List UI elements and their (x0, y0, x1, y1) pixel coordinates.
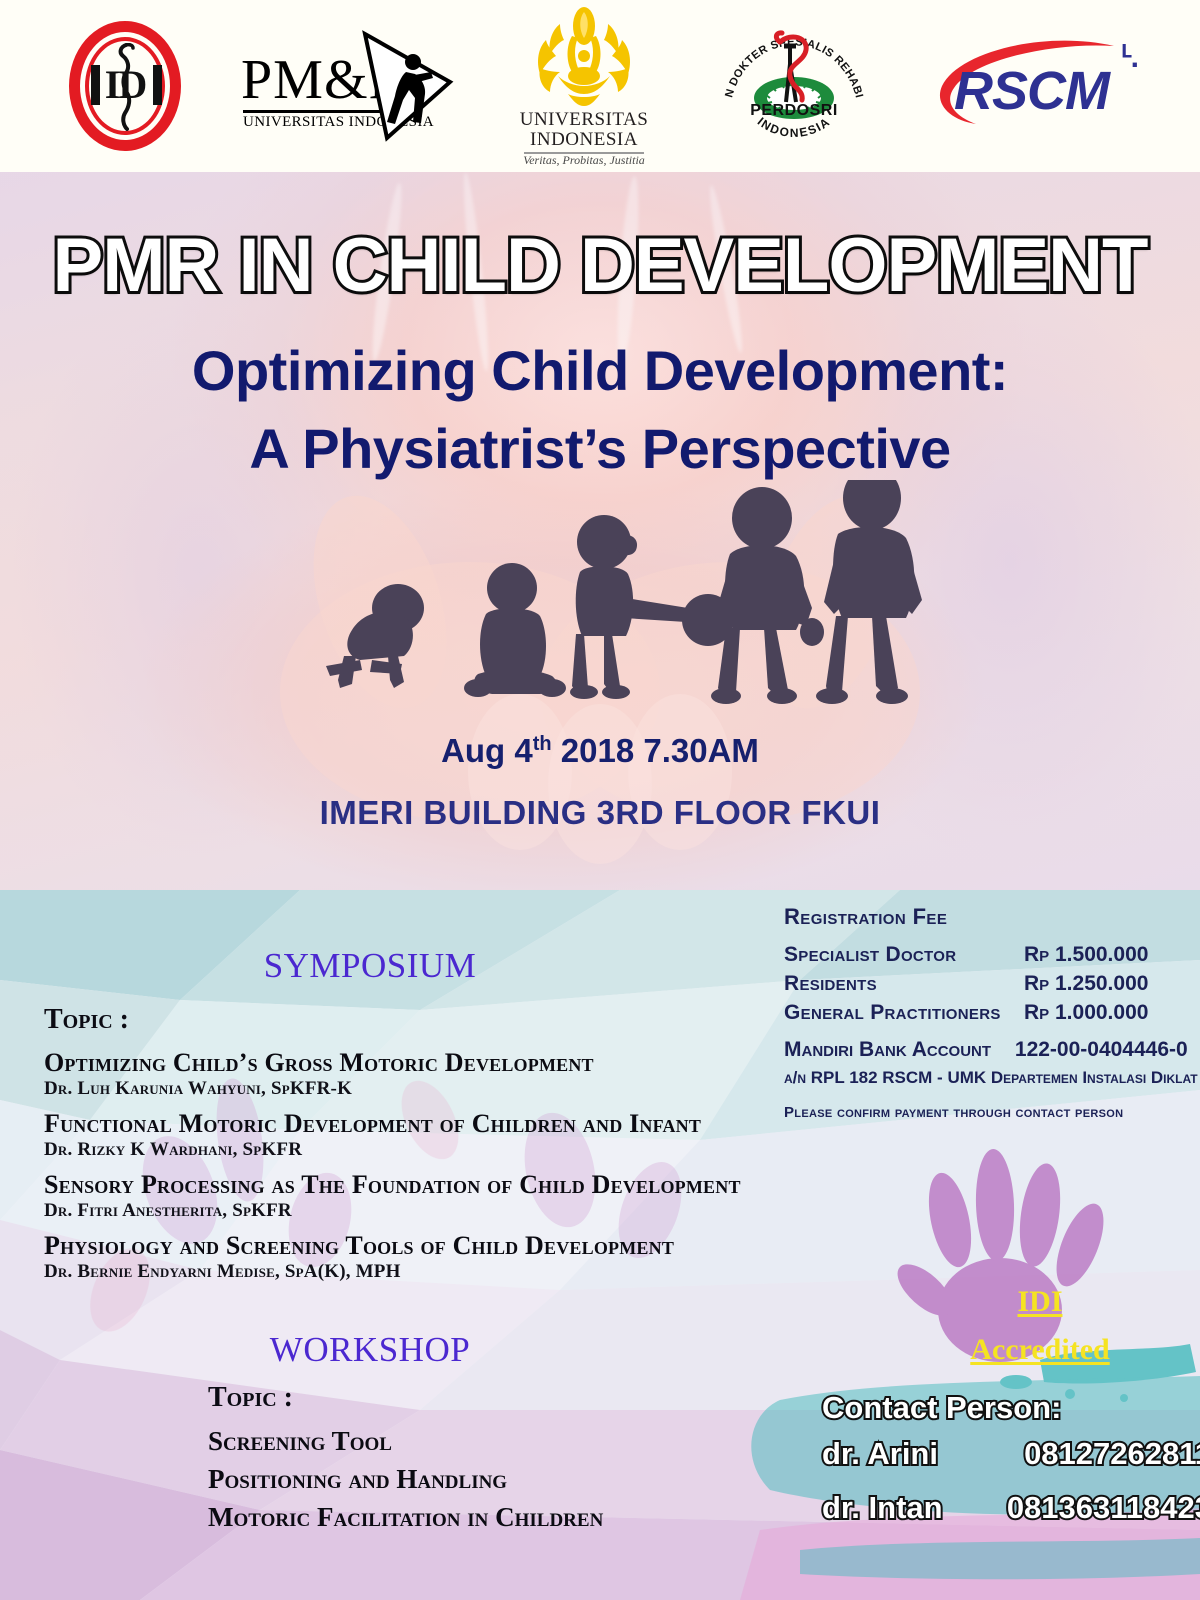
page-subtitle-line2: A Physiatrist’s Perspective (249, 417, 950, 480)
symposium-topic-label: Topic : (44, 1004, 129, 1036)
contact-name: dr. Arini (822, 1436, 938, 1472)
fee-label: General Practitioners (784, 998, 1001, 1027)
payment-confirmation-note: Please confirm payment through contact p… (784, 1104, 1199, 1121)
ui-logo-name-line1: UNIVERSITAS (520, 109, 649, 130)
event-date-prefix: Aug 4 (441, 732, 533, 769)
idi-accredited-text: IDI Accredited (920, 1278, 1160, 1374)
logo-slot-pmr: PM&R UNIVERSITAS INDONESIA (239, 30, 454, 142)
perdosri-emblem-icon: PERHIMPUNAN DOKTER SPESIALIS REHABILITAS… (714, 6, 874, 166)
list-item: Optimizing Child’s Gross Motoric Develop… (44, 1048, 754, 1100)
rscm-cross-mark-icon: ᒻ. (1121, 40, 1137, 75)
list-item: Positioning and Handling (208, 1460, 768, 1498)
rscm-wordmark: RSCM (954, 60, 1109, 122)
silhouette-walking-child (711, 487, 824, 704)
page-subtitle: Optimizing Child Development: A Physiatr… (0, 332, 1200, 488)
silhouette-sitting-baby (464, 563, 566, 697)
bank-account-name: a/n RPL 182 RSCM - UMK Departemen Instal… (784, 1068, 1199, 1088)
talk-title: Sensory Processing as The Foundation of … (44, 1170, 754, 1199)
list-item: Sensory Processing as The Foundation of … (44, 1170, 754, 1222)
list-item: Motoric Facilitation in Children (208, 1498, 768, 1536)
rscm-logo: RSCM ᒻ. (924, 34, 1139, 139)
fee-amount: Rp 1.500.000 (1024, 940, 1184, 969)
pmr-ui-logo: PM&R UNIVERSITAS INDONESIA (239, 30, 454, 142)
contact-row[interactable]: dr. Arini 08127262811 (822, 1436, 1200, 1472)
fee-table: Specialist Doctor Rp 1.500.000 Residents… (784, 940, 1184, 1027)
workshop-heading: WORKSHOP (0, 1330, 740, 1370)
event-date-suffix: 2018 7.30AM (552, 732, 759, 769)
talk-title: Functional Motoric Development of Childr… (44, 1109, 754, 1138)
idi-logo: ID (61, 15, 189, 157)
event-venue: IMERI BUILDING 3RD FLOOR FKUI (0, 794, 1200, 832)
table-row: General Practitioners Rp 1.000.000 (784, 998, 1184, 1027)
list-item: Physiology and Screening Tools of Child … (44, 1231, 754, 1283)
details-section: SYMPOSIUM Topic : Optimizing Child’s Gro… (0, 890, 1200, 1600)
pmr-running-figure-triangle-icon (357, 30, 454, 142)
idi-asclepius-snake-icon (117, 43, 135, 131)
event-date: Aug 4th 2018 7.30AM (0, 732, 1200, 770)
registration-panel: Registration Fee Specialist Doctor Rp 1.… (770, 890, 1200, 1150)
talk-speaker: Dr. Fitri Anestherita, SpKFR (44, 1199, 754, 1222)
ui-makara-emblem-icon (530, 6, 638, 108)
fee-amount: Rp 1.250.000 (1024, 969, 1184, 998)
talk-speaker: Dr. Bernie Endyarni Medise, SpA(K), MPH (44, 1260, 754, 1283)
page-title: PMR IN CHILD DEVELOPMENT (0, 222, 1200, 309)
bank-account-number: 122-00-0404446-0 (1015, 1038, 1188, 1062)
workshop-topic-label: Topic : (208, 1382, 293, 1414)
contact-phone[interactable]: 08127262811 (992, 1436, 1200, 1472)
table-row: Specialist Doctor Rp 1.500.000 (784, 940, 1184, 969)
ui-logo-name: UNIVERSITAS INDONESIA (504, 110, 664, 150)
logo-slot-ui: UNIVERSITAS INDONESIA Veritas, Probitas,… (504, 4, 664, 168)
contact-person-title: Contact Person: (822, 1390, 1061, 1426)
poster-root: ID PM&R UNIVERSITAS INDONESIA (0, 0, 1200, 1600)
idi-accredited-line2: Accredited (920, 1326, 1160, 1374)
bank-account-label: Mandiri Bank Account (784, 1038, 991, 1062)
workshop-topic-list: Screening Tool Positioning and Handling … (208, 1422, 768, 1536)
list-item: Screening Tool (208, 1422, 768, 1460)
symposium-heading: SYMPOSIUM (0, 946, 740, 986)
idi-accredited-line1: IDI (920, 1278, 1160, 1326)
talk-title: Physiology and Screening Tools of Child … (44, 1231, 754, 1260)
silhouette-toddler-with-ball (570, 515, 734, 699)
program-column: SYMPOSIUM Topic : Optimizing Child’s Gro… (0, 890, 770, 1600)
bank-account-line: Mandiri Bank Account 122-00-0404446-0 (784, 1038, 1194, 1062)
sponsor-logo-bar: ID PM&R UNIVERSITAS INDONESIA (0, 0, 1200, 172)
fee-label: Residents (784, 969, 877, 998)
talk-speaker: Dr. Luh Karunia Wahyuni, SpKFR-K (44, 1077, 754, 1100)
contact-row[interactable]: dr. Intan 081363118423 (822, 1490, 1200, 1526)
fee-amount: Rp 1.000.000 (1024, 998, 1184, 1027)
perdosri-wordmark: PERDOSRI (714, 102, 874, 120)
page-subtitle-line1: Optimizing Child Development: (192, 339, 1008, 402)
silhouette-crawling-baby (326, 584, 424, 688)
ui-logo-motto: Veritas, Probitas, Justitia (504, 153, 664, 168)
list-item: Functional Motoric Development of Childr… (44, 1109, 754, 1161)
hero-section: PMR IN CHILD DEVELOPMENT Optimizing Chil… (0, 172, 1200, 890)
table-row: Residents Rp 1.250.000 (784, 969, 1184, 998)
event-date-ordinal: th (533, 733, 552, 755)
contact-phone[interactable]: 081363118423 (992, 1490, 1200, 1526)
idi-accredited-badge: IDI Accredited (920, 1230, 1160, 1400)
perdosri-logo: PERHIMPUNAN DOKTER SPESIALIS REHABILITAS… (714, 6, 874, 166)
ui-logo-name-line2: INDONESIA (530, 129, 638, 150)
contact-person-block: Contact Person: dr. Arini 08127262811 dr… (800, 1390, 1200, 1590)
contact-name: dr. Intan (822, 1490, 943, 1526)
child-development-silhouettes (0, 480, 1200, 730)
registration-fee-title: Registration Fee (784, 904, 947, 930)
logo-slot-idi: ID (61, 15, 189, 157)
universitas-indonesia-logo: UNIVERSITAS INDONESIA Veritas, Probitas,… (504, 4, 664, 168)
fee-label: Specialist Doctor (784, 940, 956, 969)
logo-slot-rscm: RSCM ᒻ. (924, 34, 1139, 139)
silhouette-older-child (816, 480, 922, 704)
talk-speaker: Dr. Rizky K Wardhani, SpKFR (44, 1138, 754, 1161)
talk-title: Optimizing Child’s Gross Motoric Develop… (44, 1048, 754, 1077)
logo-slot-perdosri: PERHIMPUNAN DOKTER SPESIALIS REHABILITAS… (714, 6, 874, 166)
symposium-talk-list: Optimizing Child’s Gross Motoric Develop… (44, 1048, 754, 1292)
